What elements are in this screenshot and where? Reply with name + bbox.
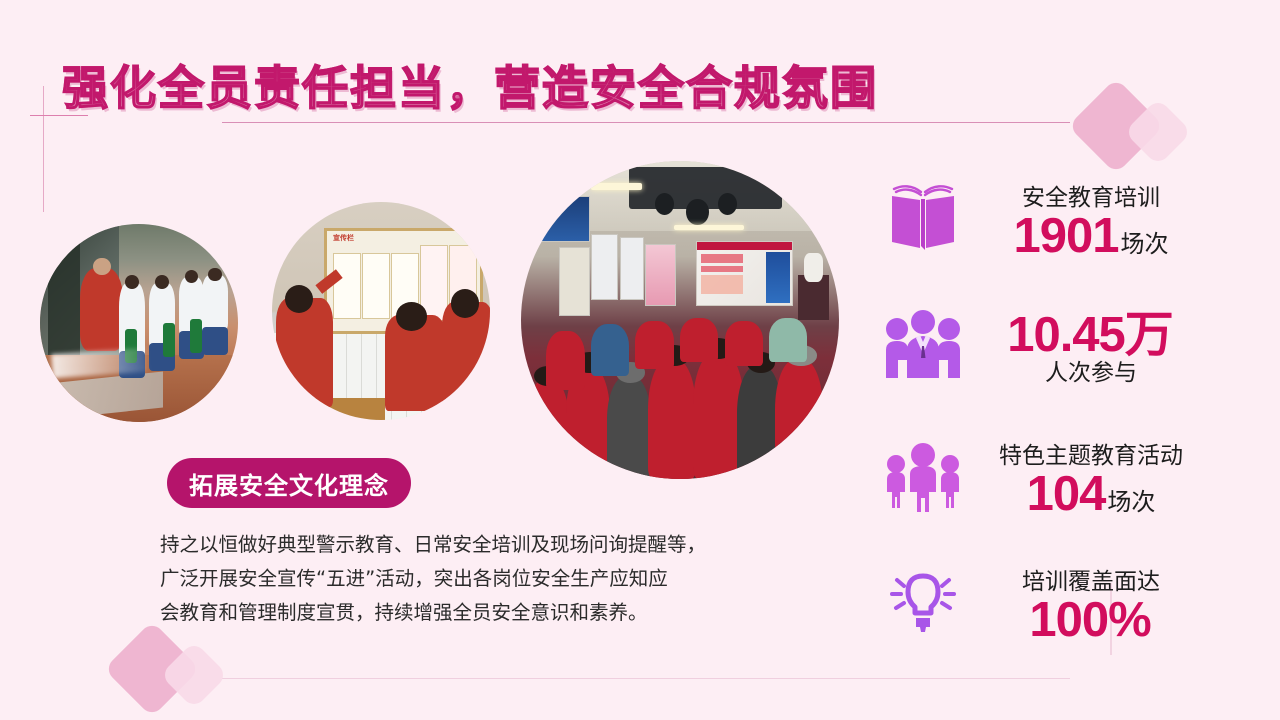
stat-number: 1901	[1013, 212, 1118, 261]
page-title: 强化全员责任担当，营造安全合规氛围	[62, 52, 878, 118]
description-line-1: 持之以恒做好典型警示教育、日常安全培训及现场问询提醒等，	[160, 528, 770, 562]
slide-root: 强化全员责任担当，营造安全合规氛围	[0, 0, 1280, 720]
three-people-icon	[880, 434, 966, 520]
stat-label: 人次参与	[1045, 360, 1137, 386]
stat-text-block: 人次参与 10.45万	[976, 294, 1206, 404]
safety-lecture-hall-photo	[521, 161, 839, 479]
statistics-list: 安全教育培训 1901 场次	[876, 168, 1206, 668]
stat-number: 104	[1027, 470, 1106, 519]
stat-number: 10.45万	[1007, 311, 1173, 360]
stat-text-block: 安全教育培训 1901 场次	[976, 168, 1206, 278]
stat-value: 100%	[1029, 596, 1152, 645]
stat-number: 100%	[1029, 596, 1150, 645]
title-divider-line	[222, 122, 1070, 123]
description-line-2: 广泛开展安全宣传“五进”活动，突出各岗位安全生产应知应	[160, 562, 770, 596]
description-line-3: 会教育和管理制度宣贯，持续增强全员安全意识和素养。	[160, 596, 770, 630]
lightbulb-icon	[880, 560, 966, 646]
stat-label: 安全教育培训	[1022, 185, 1160, 211]
badge-label: 拓展安全文化理念	[189, 466, 389, 501]
stat-text-block: 培训覆盖面达 100%	[976, 552, 1206, 662]
stat-item-safety-training: 安全教育培训 1901 场次	[876, 168, 1206, 286]
vertical-accent-line	[43, 86, 44, 212]
description-paragraph: 持之以恒做好典型警示教育、日常安全培训及现场问询提醒等， 广泛开展安全宣传“五进…	[160, 528, 770, 630]
bottom-divider-line	[222, 678, 1070, 679]
people-group-meeting-icon	[880, 302, 966, 388]
stat-text-block: 特色主题教育活动 104 场次	[976, 426, 1206, 536]
stat-value: 104 场次	[1027, 470, 1156, 519]
stat-value: 1901 场次	[1013, 212, 1168, 261]
stat-item-theme-activities: 特色主题教育活动 104 场次	[876, 426, 1206, 544]
fire-extinguisher-drill-photo	[40, 224, 238, 422]
stat-label: 特色主题教育活动	[999, 443, 1183, 469]
stat-unit: 场次	[1107, 490, 1155, 514]
stat-unit: 场次	[1121, 232, 1169, 256]
status-badge: 拓展安全文化理念	[167, 458, 411, 508]
stat-item-training-coverage: 培训覆盖面达 100%	[876, 552, 1206, 670]
stat-label: 培训覆盖面达	[1022, 569, 1160, 595]
stat-item-participants: 人次参与 10.45万	[876, 294, 1206, 412]
stat-value: 10.45万	[1007, 311, 1175, 360]
bulletin-board-briefing-photo: 宣传栏	[272, 202, 490, 420]
open-book-icon	[880, 176, 966, 262]
